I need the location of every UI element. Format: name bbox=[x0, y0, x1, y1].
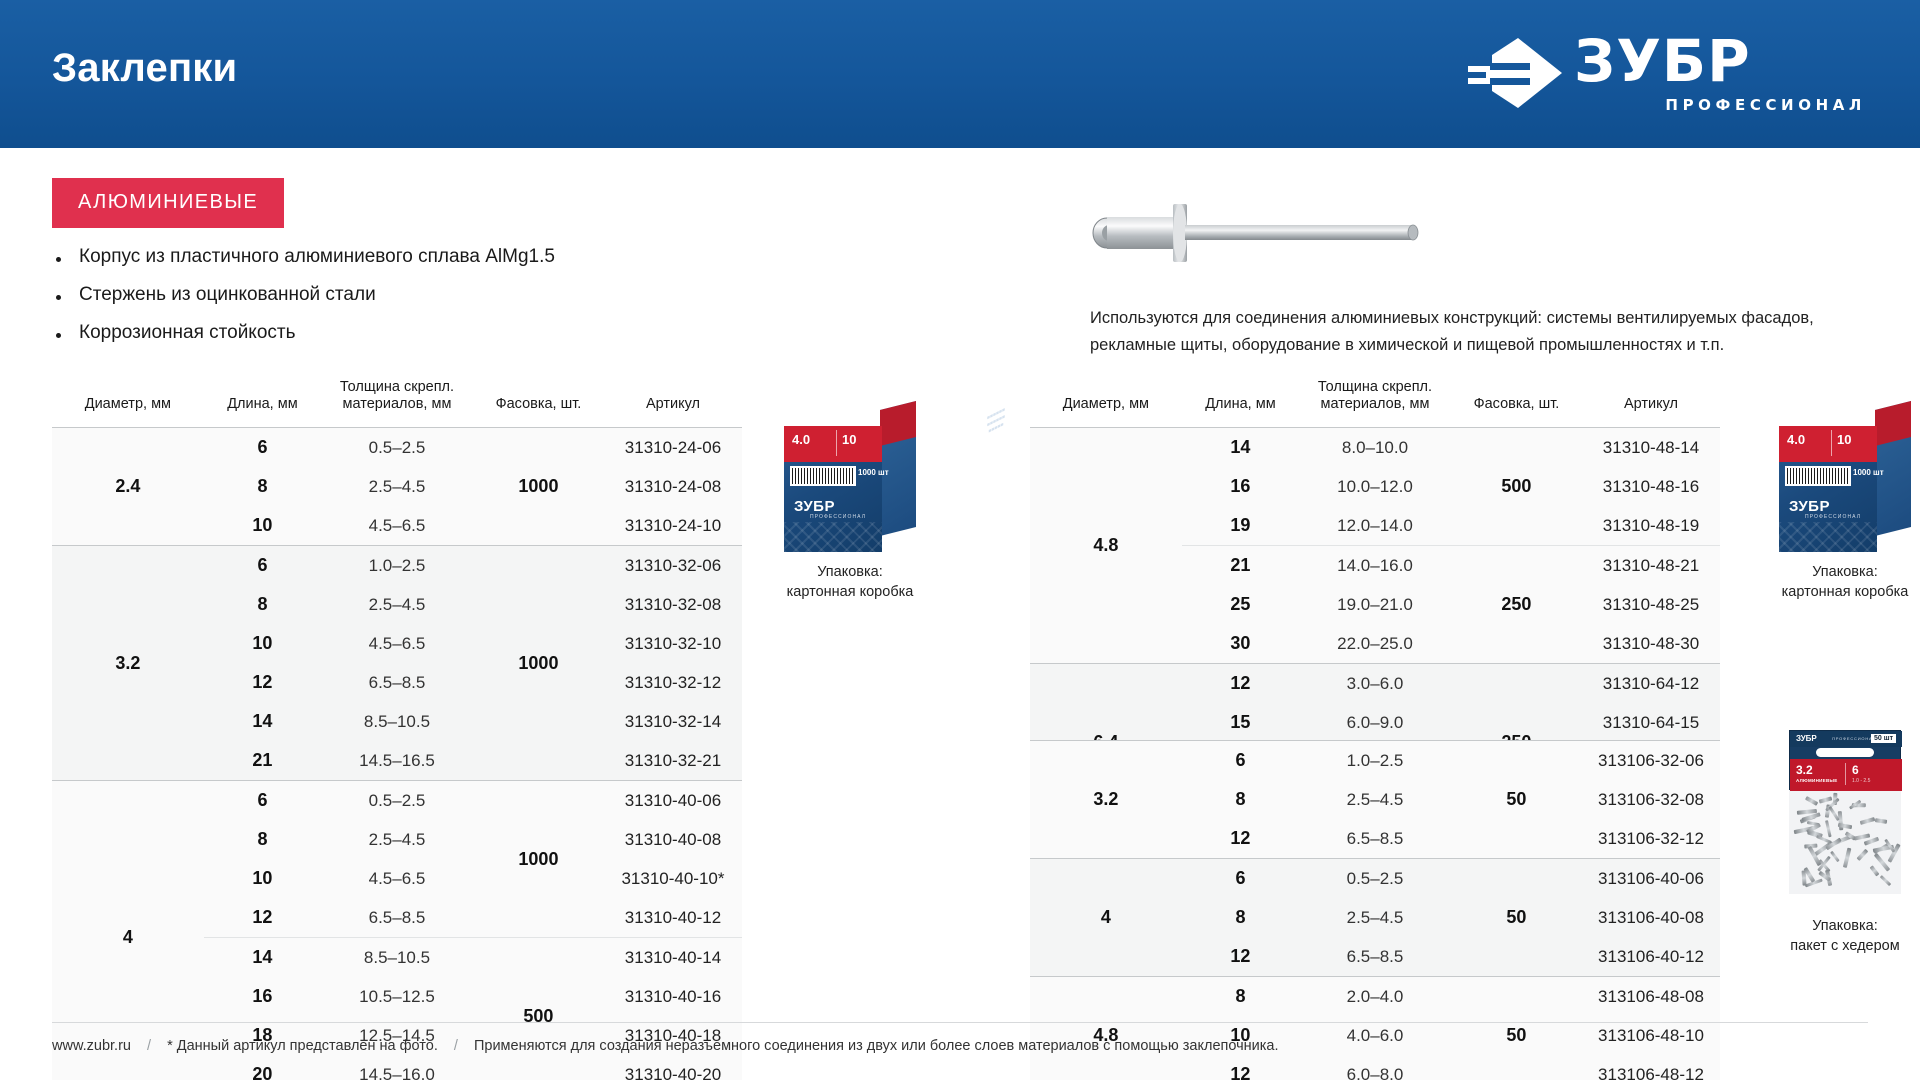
cell-length: 14 bbox=[204, 702, 321, 741]
box-qty-label: 1000 шт bbox=[858, 468, 889, 477]
cell-thickness: 2.5–4.5 bbox=[1299, 780, 1451, 819]
carton-box-image: ■■■■■■■■■■■■■■■■■ 4.0 10 1000 шт ЗУБР ПР… bbox=[784, 410, 916, 552]
cell-thickness: 6.0–8.0 bbox=[1299, 1055, 1451, 1080]
table-right-bottom-body: 3.261.0–2.550313106-32-0682.5–4.5313106-… bbox=[1030, 741, 1720, 1080]
cell-article: 31310-64-12 bbox=[1582, 664, 1720, 704]
rivet-photo bbox=[1085, 198, 1585, 268]
cell-diameter: 3.2 bbox=[52, 546, 204, 781]
logo-wordmark: ЗУБР bbox=[1574, 32, 1751, 90]
cell-thickness: 4.5–6.5 bbox=[321, 506, 473, 546]
cell-length: 8 bbox=[1182, 780, 1299, 819]
page-title: Заклепки bbox=[52, 46, 237, 91]
bag-diameter: 3.2 bbox=[1796, 763, 1813, 777]
feature-text: Корпус из пластичного алюминиевого сплав… bbox=[79, 246, 555, 268]
cell-pack: 50 bbox=[1451, 741, 1582, 859]
col-article: Артикул bbox=[604, 375, 742, 428]
rivet-icon bbox=[1819, 796, 1833, 803]
cell-article: 31310-24-08 bbox=[604, 467, 742, 506]
footer: www.zubr.ru / * Данный артикул представл… bbox=[52, 1038, 1279, 1054]
cell-article: 31310-24-10 bbox=[604, 506, 742, 546]
table-row: 3.261.0–2.5100031310-32-06 bbox=[52, 546, 742, 586]
cell-article: 31310-40-20 bbox=[604, 1055, 742, 1080]
cell-article: 31310-48-16 bbox=[1582, 467, 1720, 506]
bag-image: ЗУБР ПРОФЕССИОНАЛ 50 шт 3.2 АЛЮМИНИЕВЫЕ … bbox=[1779, 730, 1911, 906]
cell-length: 20 bbox=[204, 1055, 321, 1080]
col-diameter: Диаметр, мм bbox=[1030, 375, 1182, 428]
cell-thickness: 10.0–12.0 bbox=[1299, 467, 1451, 506]
cell-thickness: 6.5–8.5 bbox=[1299, 937, 1451, 977]
box-pattern bbox=[784, 522, 882, 552]
cell-length: 8 bbox=[1182, 977, 1299, 1017]
bullet-icon bbox=[56, 257, 61, 262]
footer-note-asterisk: * Данный артикул представлен на фото. bbox=[167, 1038, 438, 1054]
cell-thickness: 22.0–25.0 bbox=[1299, 624, 1451, 664]
cell-length: 6 bbox=[1182, 859, 1299, 899]
rivet-icon bbox=[1869, 865, 1879, 876]
cell-thickness: 0.5–2.5 bbox=[321, 781, 473, 821]
bullet-icon bbox=[56, 333, 61, 338]
bag-label-divider bbox=[1845, 763, 1846, 785]
cell-thickness: 4.5–6.5 bbox=[321, 859, 473, 898]
cell-length: 16 bbox=[1182, 467, 1299, 506]
cell-length: 10 bbox=[204, 624, 321, 663]
cell-length: 16 bbox=[204, 977, 321, 1016]
barcode-icon bbox=[790, 466, 856, 486]
cell-thickness: 6.5–8.5 bbox=[321, 898, 473, 938]
box-diameter-label: 4.0 bbox=[1787, 432, 1805, 447]
rivet-icon bbox=[1875, 818, 1888, 824]
rivet-icon bbox=[1859, 817, 1874, 825]
footer-separator: / bbox=[135, 1038, 163, 1054]
cell-thickness: 2.5–4.5 bbox=[321, 467, 473, 506]
col-pack: Фасовка, шт. bbox=[1451, 375, 1582, 428]
category-badge: АЛЮМИНИЕВЫЕ bbox=[52, 178, 284, 228]
feature-list: Корпус из пластичного алюминиевого сплав… bbox=[52, 246, 692, 360]
cell-diameter: 4 bbox=[1030, 859, 1182, 977]
cell-length: 19 bbox=[1182, 506, 1299, 546]
cell-pack: 250 bbox=[1451, 546, 1582, 664]
cell-thickness: 6.5–8.5 bbox=[1299, 819, 1451, 859]
col-thickness: Толщина скрепл. материалов, мм bbox=[321, 375, 473, 428]
cell-thickness: 1.0–2.5 bbox=[321, 546, 473, 586]
bullet-icon bbox=[56, 295, 61, 300]
feature-text: Коррозионная стойкость bbox=[79, 322, 296, 344]
cell-article: 31310-48-14 bbox=[1582, 428, 1720, 468]
cell-length: 21 bbox=[204, 741, 321, 781]
cell-pack: 1000 bbox=[473, 428, 604, 546]
cell-thickness: 6.0–9.0 bbox=[1299, 703, 1451, 742]
bag-thickness: 1.0 - 2.5 bbox=[1852, 778, 1870, 784]
cell-thickness: 2.5–4.5 bbox=[321, 585, 473, 624]
table-row: 460.5–2.550313106-40-06 bbox=[1030, 859, 1720, 899]
cell-thickness: 0.5–2.5 bbox=[1299, 859, 1451, 899]
cell-thickness: 14.5–16.0 bbox=[321, 1055, 473, 1080]
cell-length: 15 bbox=[1182, 703, 1299, 742]
cell-pack: 500 bbox=[473, 938, 604, 1080]
bag-logo-sub: ПРОФЕССИОНАЛ bbox=[1832, 736, 1876, 741]
zubr-mark-icon bbox=[1468, 36, 1564, 110]
cell-article: 313106-32-12 bbox=[1582, 819, 1720, 859]
box-diameter-label: 4.0 bbox=[792, 432, 810, 447]
cell-length: 8 bbox=[204, 820, 321, 859]
cell-thickness: 4.5–6.5 bbox=[321, 624, 473, 663]
cell-article: 31310-32-10 bbox=[604, 624, 742, 663]
cell-article: 31310-40-10* bbox=[604, 859, 742, 898]
cell-article: 313106-48-12 bbox=[1582, 1055, 1720, 1080]
col-thickness: Толщина скрепл. материалов, мм bbox=[1299, 375, 1451, 428]
box-label-divider bbox=[836, 430, 837, 456]
col-pack: Фасовка, шт. bbox=[473, 375, 604, 428]
cell-article: 31310-48-25 bbox=[1582, 585, 1720, 624]
col-article: Артикул bbox=[1582, 375, 1720, 428]
cell-length: 12 bbox=[1182, 819, 1299, 859]
cell-length: 8 bbox=[204, 467, 321, 506]
cell-thickness: 8.5–10.5 bbox=[321, 702, 473, 741]
cell-thickness: 12.0–14.0 bbox=[1299, 506, 1451, 546]
cell-thickness: 2.0–4.0 bbox=[1299, 977, 1451, 1017]
cell-article: 31310-48-19 bbox=[1582, 506, 1720, 546]
feature-text: Стержень из оцинкованной стали bbox=[79, 284, 376, 306]
cell-article: 31310-40-14 bbox=[604, 938, 742, 978]
cell-article: 31310-40-12 bbox=[604, 898, 742, 938]
cell-thickness: 1.0–2.5 bbox=[1299, 741, 1451, 781]
barcode-icon bbox=[1785, 466, 1851, 486]
carton-box-image: ■■■■■■■■■■■■■■■■■ 4.0 10 1000 шт ЗУБР ПР… bbox=[1779, 410, 1911, 552]
box-logo: ЗУБР bbox=[1789, 498, 1830, 515]
table-header-row: Диаметр, мм Длина, мм Толщина скрепл. ма… bbox=[1030, 375, 1720, 428]
cell-article: 31310-32-08 bbox=[604, 585, 742, 624]
cell-pack: 1000 bbox=[473, 546, 604, 781]
bag-hang-hole bbox=[1816, 748, 1874, 757]
box-logo: ЗУБР bbox=[794, 498, 835, 515]
product-spec-page: Заклепки ЗУБР ПРОФЕССИОНАЛ АЛЮМИНИЕВЫЕ К… bbox=[0, 0, 1920, 1080]
cell-article: 31310-48-30 bbox=[1582, 624, 1720, 664]
cell-thickness: 8.0–10.0 bbox=[1299, 428, 1451, 468]
box-pattern bbox=[1779, 522, 1877, 552]
table-right-bottom: 3.261.0–2.550313106-32-0682.5–4.5313106-… bbox=[1030, 740, 1720, 1080]
cell-diameter: 4.8 bbox=[1030, 977, 1182, 1080]
cell-thickness: 10.5–12.5 bbox=[321, 977, 473, 1016]
feature-item: Корпус из пластичного алюминиевого сплав… bbox=[52, 246, 692, 268]
cell-length: 10 bbox=[204, 859, 321, 898]
rivet-icon bbox=[1856, 849, 1868, 861]
col-length: Длина, мм bbox=[204, 375, 321, 428]
table-row: 3.261.0–2.550313106-32-06 bbox=[1030, 741, 1720, 781]
cell-article: 313106-32-06 bbox=[1582, 741, 1720, 781]
cell-length: 8 bbox=[204, 585, 321, 624]
cell-article: 313106-40-08 bbox=[1582, 898, 1720, 937]
cell-article: 313106-40-12 bbox=[1582, 937, 1720, 977]
col-length: Длина, мм bbox=[1182, 375, 1299, 428]
col-diameter: Диаметр, мм bbox=[52, 375, 204, 428]
cell-diameter: 3.2 bbox=[1030, 741, 1182, 859]
brand-logo: ЗУБР ПРОФЕССИОНАЛ bbox=[1468, 30, 1868, 122]
cell-thickness: 2.5–4.5 bbox=[321, 820, 473, 859]
cell-thickness: 6.5–8.5 bbox=[321, 663, 473, 702]
page-header: Заклепки ЗУБР ПРОФЕССИОНАЛ bbox=[0, 0, 1920, 148]
cell-thickness: 2.5–4.5 bbox=[1299, 898, 1451, 937]
package-caption: Упаковка: картонная коробка bbox=[1752, 562, 1920, 602]
cell-pack: 1000 bbox=[473, 781, 604, 938]
table-left: Диаметр, мм Длина, мм Толщина скрепл. ма… bbox=[52, 375, 742, 1080]
bag-header-card: ЗУБР ПРОФЕССИОНАЛ 50 шт 3.2 АЛЮМИНИЕВЫЕ … bbox=[1789, 730, 1901, 790]
cell-thickness: 14.0–16.0 bbox=[1299, 546, 1451, 586]
cell-diameter: 4.8 bbox=[1030, 428, 1182, 664]
bag-length: 6 bbox=[1852, 763, 1859, 777]
cell-length: 12 bbox=[204, 898, 321, 938]
cell-thickness: 14.5–16.5 bbox=[321, 741, 473, 781]
cell-diameter: 4 bbox=[52, 781, 204, 1080]
cell-thickness: 8.5–10.5 bbox=[321, 938, 473, 978]
cell-length: 12 bbox=[1182, 937, 1299, 977]
table-row: 4.882.0–4.050313106-48-08 bbox=[1030, 977, 1720, 1017]
cell-article: 31310-32-14 bbox=[604, 702, 742, 741]
cell-article: 31310-24-06 bbox=[604, 428, 742, 468]
footer-url[interactable]: www.zubr.ru bbox=[52, 1038, 131, 1054]
table-header-row: Диаметр, мм Длина, мм Толщина скрепл. ма… bbox=[52, 375, 742, 428]
rivet-icon bbox=[1805, 796, 1819, 806]
cell-article: 31310-32-12 bbox=[604, 663, 742, 702]
cell-length: 10 bbox=[204, 506, 321, 546]
box-side-text: ■■■■■■■■■■■■■■■■■ bbox=[982, 404, 1010, 439]
cell-article: 313106-40-06 bbox=[1582, 859, 1720, 899]
footer-divider bbox=[52, 1022, 1868, 1023]
cell-length: 12 bbox=[204, 663, 321, 702]
feature-item: Коррозионная стойкость bbox=[52, 322, 692, 344]
rivet-icon bbox=[1880, 875, 1891, 886]
rivet-icon bbox=[1825, 820, 1832, 837]
cell-length: 21 bbox=[1182, 546, 1299, 586]
logo-subtitle: ПРОФЕССИОНАЛ bbox=[1665, 96, 1866, 114]
package-caption: Упаковка: картонная коробка bbox=[757, 562, 943, 602]
box-length-label: 10 bbox=[1837, 432, 1851, 447]
cell-pack: 50 bbox=[1451, 977, 1582, 1080]
bag-body bbox=[1789, 790, 1901, 894]
cell-pack: 50 bbox=[1451, 859, 1582, 977]
cell-length: 12 bbox=[1182, 664, 1299, 704]
bag-material: АЛЮМИНИЕВЫЕ bbox=[1796, 778, 1838, 783]
cell-article: 31310-40-06 bbox=[604, 781, 742, 821]
cell-diameter: 2.4 bbox=[52, 428, 204, 546]
cell-article: 31310-32-21 bbox=[604, 741, 742, 781]
table-row: 2.460.5–2.5100031310-24-06 bbox=[52, 428, 742, 468]
feature-item: Стержень из оцинкованной стали bbox=[52, 284, 692, 306]
rivet-icon bbox=[1830, 850, 1840, 861]
cell-article: 31310-40-08 bbox=[604, 820, 742, 859]
bag-qty-badge: 50 шт bbox=[1871, 734, 1896, 743]
package-bag: ЗУБР ПРОФЕССИОНАЛ 50 шт 3.2 АЛЮМИНИЕВЫЕ … bbox=[1752, 730, 1920, 956]
cell-length: 30 bbox=[1182, 624, 1299, 664]
package-caption: Упаковка: пакет с хедером bbox=[1752, 916, 1920, 956]
cell-length: 14 bbox=[204, 938, 321, 978]
rivet-icon bbox=[1843, 848, 1851, 868]
bag-logo: ЗУБР bbox=[1796, 734, 1817, 743]
cell-length: 6 bbox=[204, 781, 321, 821]
cell-length: 12 bbox=[1182, 1055, 1299, 1080]
cell-thickness: 0.5–2.5 bbox=[321, 428, 473, 468]
box-length-label: 10 bbox=[842, 432, 856, 447]
table-row: 460.5–2.5100031310-40-06 bbox=[52, 781, 742, 821]
cell-length: 6 bbox=[204, 428, 321, 468]
cell-pack: 500 bbox=[1451, 428, 1582, 546]
cell-article: 313106-32-08 bbox=[1582, 780, 1720, 819]
table-left-body: 2.460.5–2.5100031310-24-0682.5–4.531310-… bbox=[52, 428, 742, 1080]
box-logo-sub: ПРОФЕССИОНАЛ bbox=[810, 514, 866, 520]
cell-length: 14 bbox=[1182, 428, 1299, 468]
package-box-right: ■■■■■■■■■■■■■■■■■ 4.0 10 1000 шт ЗУБР ПР… bbox=[1752, 410, 1920, 602]
cell-length: 6 bbox=[204, 546, 321, 586]
cell-article: 31310-32-06 bbox=[604, 546, 742, 586]
cell-article: 31310-48-21 bbox=[1582, 546, 1720, 586]
footer-note-usage: Применяются для создания неразъемного со… bbox=[474, 1038, 1279, 1054]
box-logo-sub: ПРОФЕССИОНАЛ bbox=[1805, 514, 1861, 520]
box-label-divider bbox=[1831, 430, 1832, 456]
footer-separator: / bbox=[442, 1038, 470, 1054]
package-box-left: ■■■■■■■■■■■■■■■■■ 4.0 10 1000 шт ЗУБР ПР… bbox=[757, 410, 943, 602]
cell-length: 6 bbox=[1182, 741, 1299, 781]
box-qty-label: 1000 шт bbox=[1853, 468, 1884, 477]
cell-article: 31310-64-15 bbox=[1582, 703, 1720, 742]
cell-length: 25 bbox=[1182, 585, 1299, 624]
cell-article: 31310-40-16 bbox=[604, 977, 742, 1016]
cell-length: 8 bbox=[1182, 898, 1299, 937]
cell-thickness: 3.0–6.0 bbox=[1299, 664, 1451, 704]
usage-description: Используются для соединения алюминиевых … bbox=[1090, 305, 1850, 359]
table-row: 4.8148.0–10.050031310-48-14 bbox=[1030, 428, 1720, 468]
table-row: 6.4123.0–6.025031310-64-12 bbox=[1030, 664, 1720, 704]
cell-article: 313106-48-08 bbox=[1582, 977, 1720, 1017]
cell-thickness: 19.0–21.0 bbox=[1299, 585, 1451, 624]
